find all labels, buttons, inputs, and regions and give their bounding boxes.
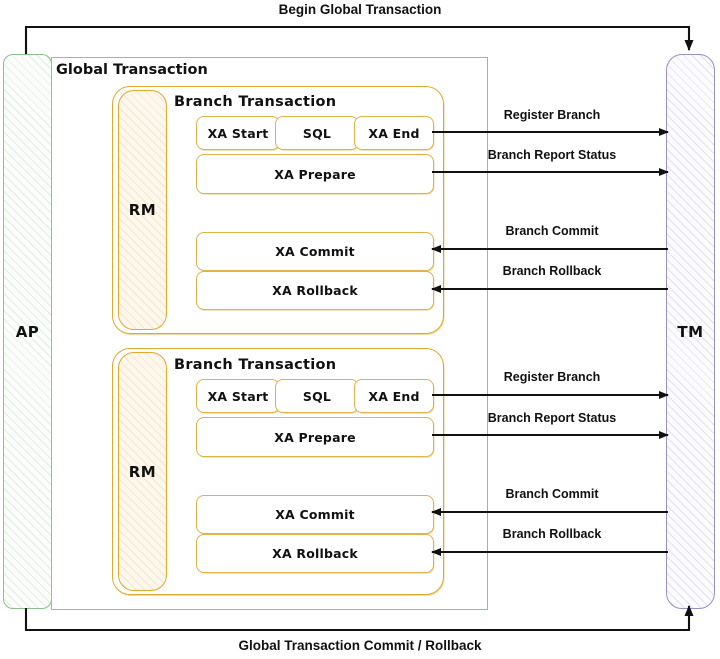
actor-ap[interactable]: AP <box>3 54 52 609</box>
xa-start-1-label: XA Start <box>208 126 269 141</box>
xa-prepare-2-label: XA Prepare <box>274 430 356 445</box>
arrow-begin-global-transaction <box>26 27 689 54</box>
xa-rollback-1-label: XA Rollback <box>272 283 358 298</box>
register-branch-label-1: Register Branch <box>437 108 667 122</box>
actor-ap-label: AP <box>16 323 40 341</box>
branch-transaction-1-title: Branch Transaction <box>174 94 336 110</box>
sql-2[interactable]: SQL <box>275 379 359 413</box>
branch-report-status-label-2: Branch Report Status <box>437 411 667 425</box>
xa-start-2[interactable]: XA Start <box>196 379 280 413</box>
xa-prepare-2[interactable]: XA Prepare <box>196 417 434 457</box>
rm-box-1[interactable]: RM <box>118 90 167 330</box>
xa-end-1-label: XA End <box>368 126 419 141</box>
xa-start-2-label: XA Start <box>208 389 269 404</box>
branch-commit-label-1: Branch Commit <box>437 224 667 238</box>
xa-prepare-1-label: XA Prepare <box>274 167 356 182</box>
global-transaction-commit-rollback-label: Global Transaction Commit / Rollback <box>0 638 720 653</box>
global-transaction-title: Global Transaction <box>56 62 208 78</box>
xa-end-2[interactable]: XA End <box>354 379 434 413</box>
branch-report-status-label-1: Branch Report Status <box>437 148 667 162</box>
xa-end-2-label: XA End <box>368 389 419 404</box>
xa-rollback-2[interactable]: XA Rollback <box>196 534 434 573</box>
rm-label-1: RM <box>129 201 156 219</box>
xa-commit-2[interactable]: XA Commit <box>196 495 434 534</box>
xa-commit-1-label: XA Commit <box>275 244 355 259</box>
xa-transaction-diagram: Begin Global Transaction Global Transact… <box>0 0 720 659</box>
begin-global-transaction-label: Begin Global Transaction <box>0 2 720 17</box>
rm-box-2[interactable]: RM <box>118 352 167 591</box>
xa-commit-1[interactable]: XA Commit <box>196 232 434 271</box>
branch-commit-label-2: Branch Commit <box>437 487 667 501</box>
actor-tm[interactable]: TM <box>666 54 715 609</box>
actor-tm-label: TM <box>677 323 703 341</box>
branch-rollback-label-2: Branch Rollback <box>437 527 667 541</box>
sql-1-label: SQL <box>303 126 331 141</box>
register-branch-label-2: Register Branch <box>437 370 667 384</box>
xa-rollback-2-label: XA Rollback <box>272 546 358 561</box>
xa-commit-2-label: XA Commit <box>275 507 355 522</box>
sql-1[interactable]: SQL <box>275 116 359 150</box>
branch-transaction-2-title: Branch Transaction <box>174 357 336 373</box>
xa-rollback-1[interactable]: XA Rollback <box>196 271 434 310</box>
xa-start-1[interactable]: XA Start <box>196 116 280 150</box>
rm-label-2: RM <box>129 463 156 481</box>
branch-rollback-label-1: Branch Rollback <box>437 264 667 278</box>
sql-2-label: SQL <box>303 389 331 404</box>
xa-end-1[interactable]: XA End <box>354 116 434 150</box>
xa-prepare-1[interactable]: XA Prepare <box>196 154 434 194</box>
